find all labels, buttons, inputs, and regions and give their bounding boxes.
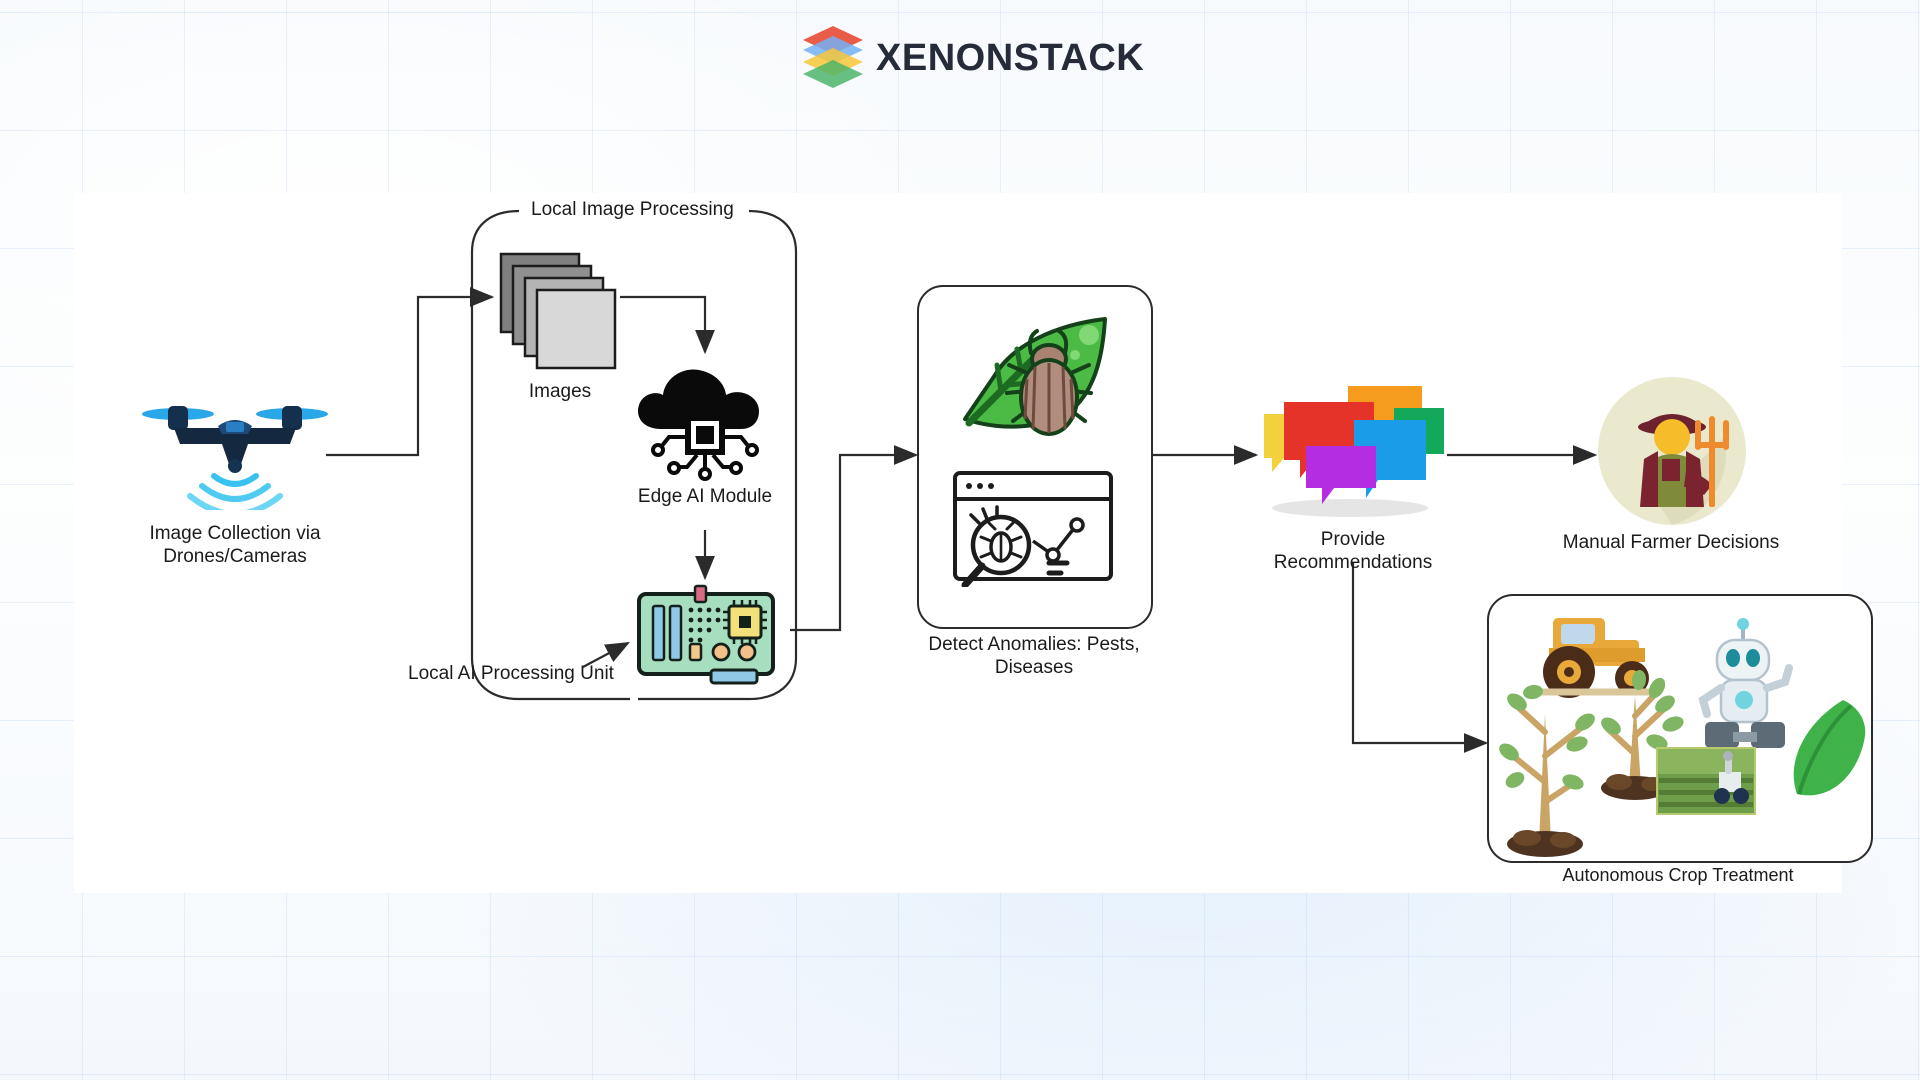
node-detect-anomalies-label: Detect Anomalies: Pests, Diseases [905,633,1163,679]
group-label-local-image-processing: Local Image Processing [524,199,741,221]
node-edge-ai-module-label: Edge AI Module [600,485,810,508]
tractor-robot-crops-icon [1489,596,1867,858]
node-autonomous-crop-treatment[interactable] [1487,594,1873,863]
node-local-ai-processing-unit-label: Local AI Processing Unit [408,662,668,685]
node-provide-recommendations[interactable]: Provide Recommendations [1258,380,1448,530]
node-detect-anomalies[interactable] [917,285,1153,629]
stacked-layers-icon [800,22,866,94]
bug-scan-dashboard-icon [949,467,1117,587]
page-header: XENONSTACK [0,0,1920,130]
brand-logo: XENONSTACK [800,22,1144,94]
node-autonomous-crop-treatment-label: Autonomous Crop Treatment [1498,865,1858,887]
node-provide-recommendations-label: Provide Recommendations [1228,528,1478,574]
node-local-ai-processing-unit[interactable]: Local AI Processing Unit [633,580,783,690]
node-images-label: Images [485,380,635,403]
image-stack-icon [495,248,625,378]
cloud-chip-icon [625,355,785,485]
leaf-beetle-icon [935,299,1135,449]
farmer-icon [1596,375,1748,527]
node-image-collection[interactable]: Image Collection via Drones/Cameras [140,370,330,510]
node-images[interactable]: Images [495,248,625,378]
speech-bubbles-icon [1258,380,1448,530]
node-image-collection-label: Image Collection via Drones/Cameras [135,522,335,568]
node-edge-ai-module[interactable]: Edge AI Module [625,355,785,485]
node-manual-farmer-decisions-label: Manual Farmer Decisions [1521,531,1821,554]
node-manual-farmer-decisions[interactable]: Manual Farmer Decisions [1596,375,1748,527]
drone-icon [140,370,330,510]
brand-name: XENONSTACK [876,37,1144,80]
